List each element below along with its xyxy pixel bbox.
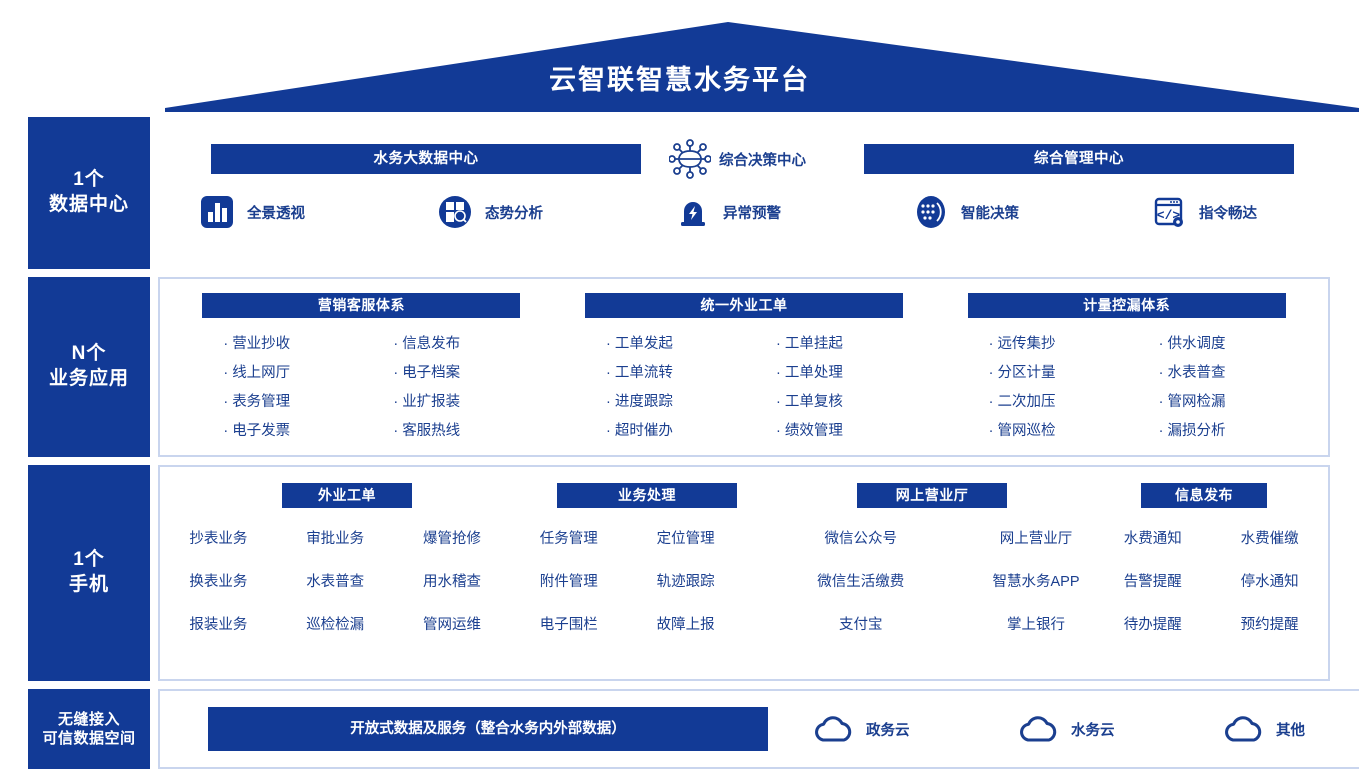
group-items: 工单发起 工单挂起 工单流转 工单处理 进度跟踪 工单复核 超时催办 绩效管理 [574,332,914,440]
list-item[interactable]: 爆管抢修 [394,527,511,548]
network-nodes-icon [669,138,711,180]
cloud-water-affairs-label: 水务云 [1071,719,1115,740]
list-item[interactable]: 工单处理 [744,361,843,382]
data-center-body: 水务大数据中心 [158,117,1359,269]
row-label-line1: 1个 [73,548,105,573]
feature-command-delivery-label: 指令畅达 [1199,202,1257,223]
list-item[interactable]: 工单复核 [744,390,843,411]
bar-management-center[interactable]: 综合管理中心 [864,144,1294,174]
list-item[interactable]: 待办提醒 [1094,613,1211,634]
list-item[interactable]: 水表普查 [277,570,394,591]
list-item[interactable]: 停水通知 [1211,570,1328,591]
group-items: 远传集抄 供水调度 分区计量 水表普查 二次加压 管网检漏 管网巡检 漏损分析 [957,332,1297,440]
row-label-line2: 数据中心 [49,193,129,218]
list-item[interactable]: 告警提醒 [1094,570,1211,591]
row-label-line2: 可信数据空间 [42,729,135,749]
list-item[interactable]: 智慧水务APP [978,570,1095,591]
group-marketing-service: 营销客服体系 营业抄收 信息发布 线上网厅 电子档案 表务管理 业扩报装 电子发… [170,293,553,445]
row-data-center: 1个 数据中心 水务大数据中心 [28,117,1330,269]
bar-chart-icon [198,193,236,231]
cloud-government[interactable]: 政务云 [812,713,1017,745]
list-item[interactable]: 工单挂起 [744,332,843,353]
architecture-diagram: 云智联智慧水务平台 1个 数据中心 水务大数据中心 [0,0,1359,783]
list-item[interactable]: 抄表业务 [160,527,277,548]
row-mobile: 1个 手机 外业工单 业务处理 网上营业厅 信息发布 抄表业务 审批业务 爆管抢… [28,465,1330,681]
group-metering-leak-control: 计量控漏体系 远传集抄 供水调度 分区计量 水表普查 二次加压 管网检漏 管网巡… [935,293,1318,445]
list-item[interactable]: 故障上报 [627,613,744,634]
mobile-body: 外业工单 业务处理 网上营业厅 信息发布 抄表业务 审批业务 爆管抢修 任务管理… [158,465,1330,681]
group-items: 营业抄收 信息发布 线上网厅 电子档案 表务管理 业扩报装 电子发票 客服热线 [191,332,531,440]
list-item[interactable]: 轨迹跟踪 [627,570,744,591]
feature-situation-analysis-label: 态势分析 [485,202,543,223]
list-item[interactable]: 水费通知 [1094,527,1211,548]
code-gear-icon: </> [1150,193,1188,231]
list-item[interactable]: 巡检检漏 [277,613,394,634]
feature-anomaly-alert[interactable]: 异常预警 [674,193,912,231]
row-label-business-apps: N个 业务应用 [28,277,150,457]
list-item[interactable]: 电子围栏 [510,613,627,634]
group-unified-field-order: 统一外业工单 工单发起 工单挂起 工单流转 工单处理 进度跟踪 工单复核 超时催… [553,293,936,445]
feature-situation-analysis[interactable]: 态势分析 [436,193,674,231]
list-item[interactable]: 供水调度 [1127,332,1226,353]
list-item[interactable]: 漏损分析 [1127,419,1226,440]
feature-smart-decision[interactable]: 智能决策 [912,193,1150,231]
feature-command-delivery[interactable]: </> 指令畅达 [1150,193,1359,231]
grid-search-icon [436,193,474,231]
row-label-data-center: 1个 数据中心 [28,117,150,269]
row-label-line2: 业务应用 [49,367,129,392]
cloud-icon [1222,713,1266,745]
list-item[interactable]: 进度跟踪 [574,390,673,411]
list-item[interactable]: 超时催办 [574,419,673,440]
feature-panorama[interactable]: 全景透视 [198,193,436,231]
row-label-mobile: 1个 手机 [28,465,150,681]
mobile-group-headers: 外业工单 业务处理 网上营业厅 信息发布 [160,483,1328,509]
list-item[interactable]: 管网巡检 [957,419,1056,440]
decision-center-group[interactable]: 综合决策中心 [669,138,806,180]
row-label-line1: 无缝接入 [58,710,120,730]
list-item[interactable]: 微信公众号 [744,527,978,548]
list-item[interactable]: 支付宝 [744,613,978,634]
platform-roof: 云智联智慧水务平台 [0,0,1359,112]
roof-shape [0,0,1359,112]
list-item[interactable]: 业扩报装 [361,390,460,411]
list-item[interactable]: 客服热线 [361,419,460,440]
alarm-bolt-icon [674,193,712,231]
list-item[interactable]: 水费催缴 [1211,527,1328,548]
list-item[interactable]: 微信生活缴费 [744,570,978,591]
list-item[interactable]: 掌上银行 [978,613,1095,634]
open-data-service-bar[interactable]: 开放式数据及服务（整合水务内外部数据） [208,707,768,751]
row-label-line1: N个 [72,342,107,367]
feature-panorama-label: 全景透视 [247,202,305,223]
list-item[interactable]: 水表普查 [1127,361,1226,382]
list-item[interactable]: 定位管理 [627,527,744,548]
bar-big-data-center[interactable]: 水务大数据中心 [211,144,641,174]
row-label-line2: 手机 [69,573,109,598]
list-item[interactable]: 预约提醒 [1211,613,1328,634]
data-center-bars: 水务大数据中心 [158,117,1359,179]
list-item[interactable]: 管网运维 [394,613,511,634]
list-item[interactable]: 电子档案 [361,361,460,382]
list-item[interactable]: 工单流转 [574,361,673,382]
cloud-other[interactable]: 其他 [1222,713,1359,745]
list-item[interactable]: 表务管理 [191,390,290,411]
row-data-space: 无缝接入 可信数据空间 开放式数据及服务（整合水务内外部数据） 政务云 [28,689,1330,769]
cloud-government-label: 政务云 [866,719,910,740]
list-item[interactable]: 二次加压 [957,390,1056,411]
neural-net-icon [912,193,950,231]
list-item[interactable]: 管网检漏 [1127,390,1226,411]
list-item[interactable]: 工单发起 [574,332,673,353]
decision-center-label: 综合决策中心 [719,149,806,170]
group-title[interactable]: 计量控漏体系 [968,293,1286,318]
cloud-icon [812,713,856,745]
list-item[interactable]: 审批业务 [277,527,394,548]
business-apps-body: 营销客服体系 营业抄收 信息发布 线上网厅 电子档案 表务管理 业扩报装 电子发… [158,277,1330,457]
cloud-icon [1017,713,1061,745]
mobile-group-info-release[interactable]: 信息发布 [1141,483,1267,508]
row-business-apps: N个 业务应用 营销客服体系 营业抄收 信息发布 线上网厅 电子档案 表务管理 … [28,277,1330,457]
list-item[interactable]: 用水稽查 [394,570,511,591]
list-item[interactable]: 换表业务 [160,570,277,591]
list-item[interactable]: 远传集抄 [957,332,1056,353]
row-label-data-space: 无缝接入 可信数据空间 [28,689,150,769]
feature-smart-decision-label: 智能决策 [961,202,1019,223]
data-space-body: 开放式数据及服务（整合水务内外部数据） 政务云 [158,689,1359,769]
list-item[interactable]: 电子发票 [191,419,290,440]
list-item[interactable]: 线上网厅 [191,361,290,382]
list-item[interactable]: 绩效管理 [744,419,843,440]
feature-anomaly-alert-label: 异常预警 [723,202,781,223]
list-item[interactable]: 营业抄收 [191,332,290,353]
list-item[interactable]: 附件管理 [510,570,627,591]
cloud-other-label: 其他 [1276,719,1305,740]
mobile-items-grid: 抄表业务 审批业务 爆管抢修 任务管理 定位管理 微信公众号 网上营业厅 水费通… [160,527,1328,634]
data-center-features: 全景透视 态势分析 [158,179,1359,245]
list-item[interactable]: 分区计量 [957,361,1056,382]
group-title[interactable]: 营销客服体系 [202,293,520,318]
list-item[interactable]: 任务管理 [510,527,627,548]
list-item[interactable]: 网上营业厅 [978,527,1095,548]
cloud-water-affairs[interactable]: 水务云 [1017,713,1222,745]
mobile-group-online-hall[interactable]: 网上营业厅 [857,483,1007,508]
cloud-list: 政务云 水务云 其他 [812,713,1359,745]
mobile-group-business[interactable]: 业务处理 [557,483,737,508]
list-item[interactable]: 信息发布 [361,332,460,353]
row-label-line1: 1个 [73,168,105,193]
group-title[interactable]: 统一外业工单 [585,293,903,318]
list-item[interactable]: 报装业务 [160,613,277,634]
mobile-group-field-order[interactable]: 外业工单 [282,483,412,508]
